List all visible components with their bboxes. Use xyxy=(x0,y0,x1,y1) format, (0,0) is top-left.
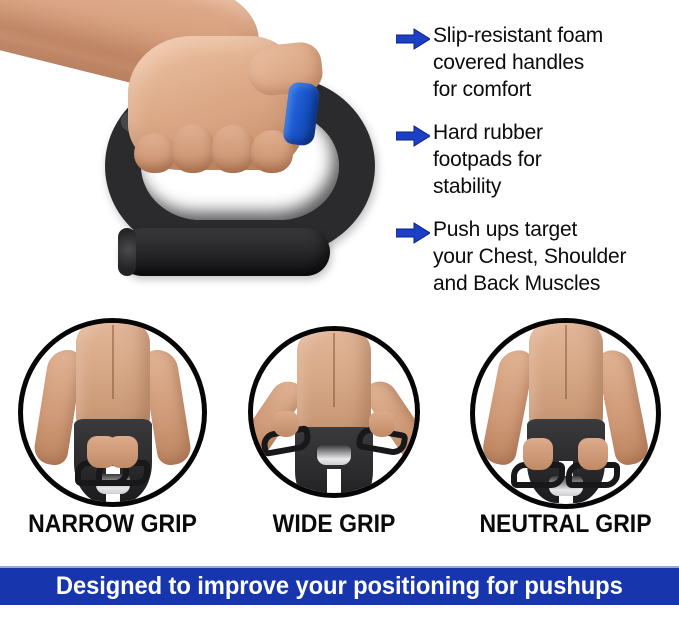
grip-label-narrow: NARROW GRIP xyxy=(26,510,200,539)
finger-2 xyxy=(172,124,214,173)
feature-text-2: Hard rubber footpads for stability xyxy=(433,119,543,200)
left-hand xyxy=(273,411,299,437)
grip-variations-section: NARROW GRIP WIDE GRIP xyxy=(0,318,679,514)
product-photo xyxy=(0,0,392,312)
grip-label-neutral: NEUTRAL GRIP xyxy=(478,510,654,539)
athlete-illustration xyxy=(23,323,202,502)
torso-centerline xyxy=(565,325,567,399)
grip-photo-neutral xyxy=(470,318,661,509)
torso-centerline xyxy=(112,325,114,399)
torso xyxy=(297,326,371,443)
arrow-right-icon xyxy=(396,125,430,147)
grip-photo-narrow xyxy=(18,318,207,507)
athlete-illustration xyxy=(475,323,656,504)
feature-item-1: Slip-resistant foam covered handles for … xyxy=(396,22,679,103)
banner-text: Designed to improve your positioning for… xyxy=(56,572,623,601)
torso-centerline xyxy=(333,333,335,407)
bottom-banner: Designed to improve your positioning for… xyxy=(0,566,679,605)
arrow-right-icon xyxy=(396,222,430,244)
finger-3 xyxy=(212,125,254,173)
banner-footer-spacer xyxy=(0,605,679,619)
grip-card-neutral: NEUTRAL GRIP xyxy=(470,318,661,509)
right-hand xyxy=(369,411,395,437)
feature-list: Slip-resistant foam covered handles for … xyxy=(396,22,679,313)
feature-item-3: Push ups target your Chest, Shoulder and… xyxy=(396,216,679,297)
push-up-bar-foot-cap xyxy=(118,228,136,276)
push-up-bar-footpad xyxy=(118,228,330,276)
grip-card-narrow: NARROW GRIP xyxy=(18,318,207,507)
arrow-right-icon xyxy=(396,28,430,50)
right-hand xyxy=(578,438,608,470)
top-section: Slip-resistant foam covered handles for … xyxy=(0,0,679,312)
right-hand xyxy=(108,436,138,468)
feature-text-3: Push ups target your Chest, Shoulder and… xyxy=(433,216,626,297)
torso xyxy=(529,318,603,435)
grip-label-wide: WIDE GRIP xyxy=(255,510,413,539)
grip-card-wide: WIDE GRIP xyxy=(248,318,420,498)
fist xyxy=(128,36,306,170)
feature-text-1: Slip-resistant foam covered handles for … xyxy=(433,22,603,103)
torso xyxy=(76,318,150,435)
shoe xyxy=(317,445,351,465)
left-hand xyxy=(523,438,553,470)
athlete-illustration xyxy=(253,331,415,493)
feature-item-2: Hard rubber footpads for stability xyxy=(396,119,679,200)
grip-photo-wide xyxy=(248,326,420,498)
finger-1 xyxy=(134,133,176,173)
